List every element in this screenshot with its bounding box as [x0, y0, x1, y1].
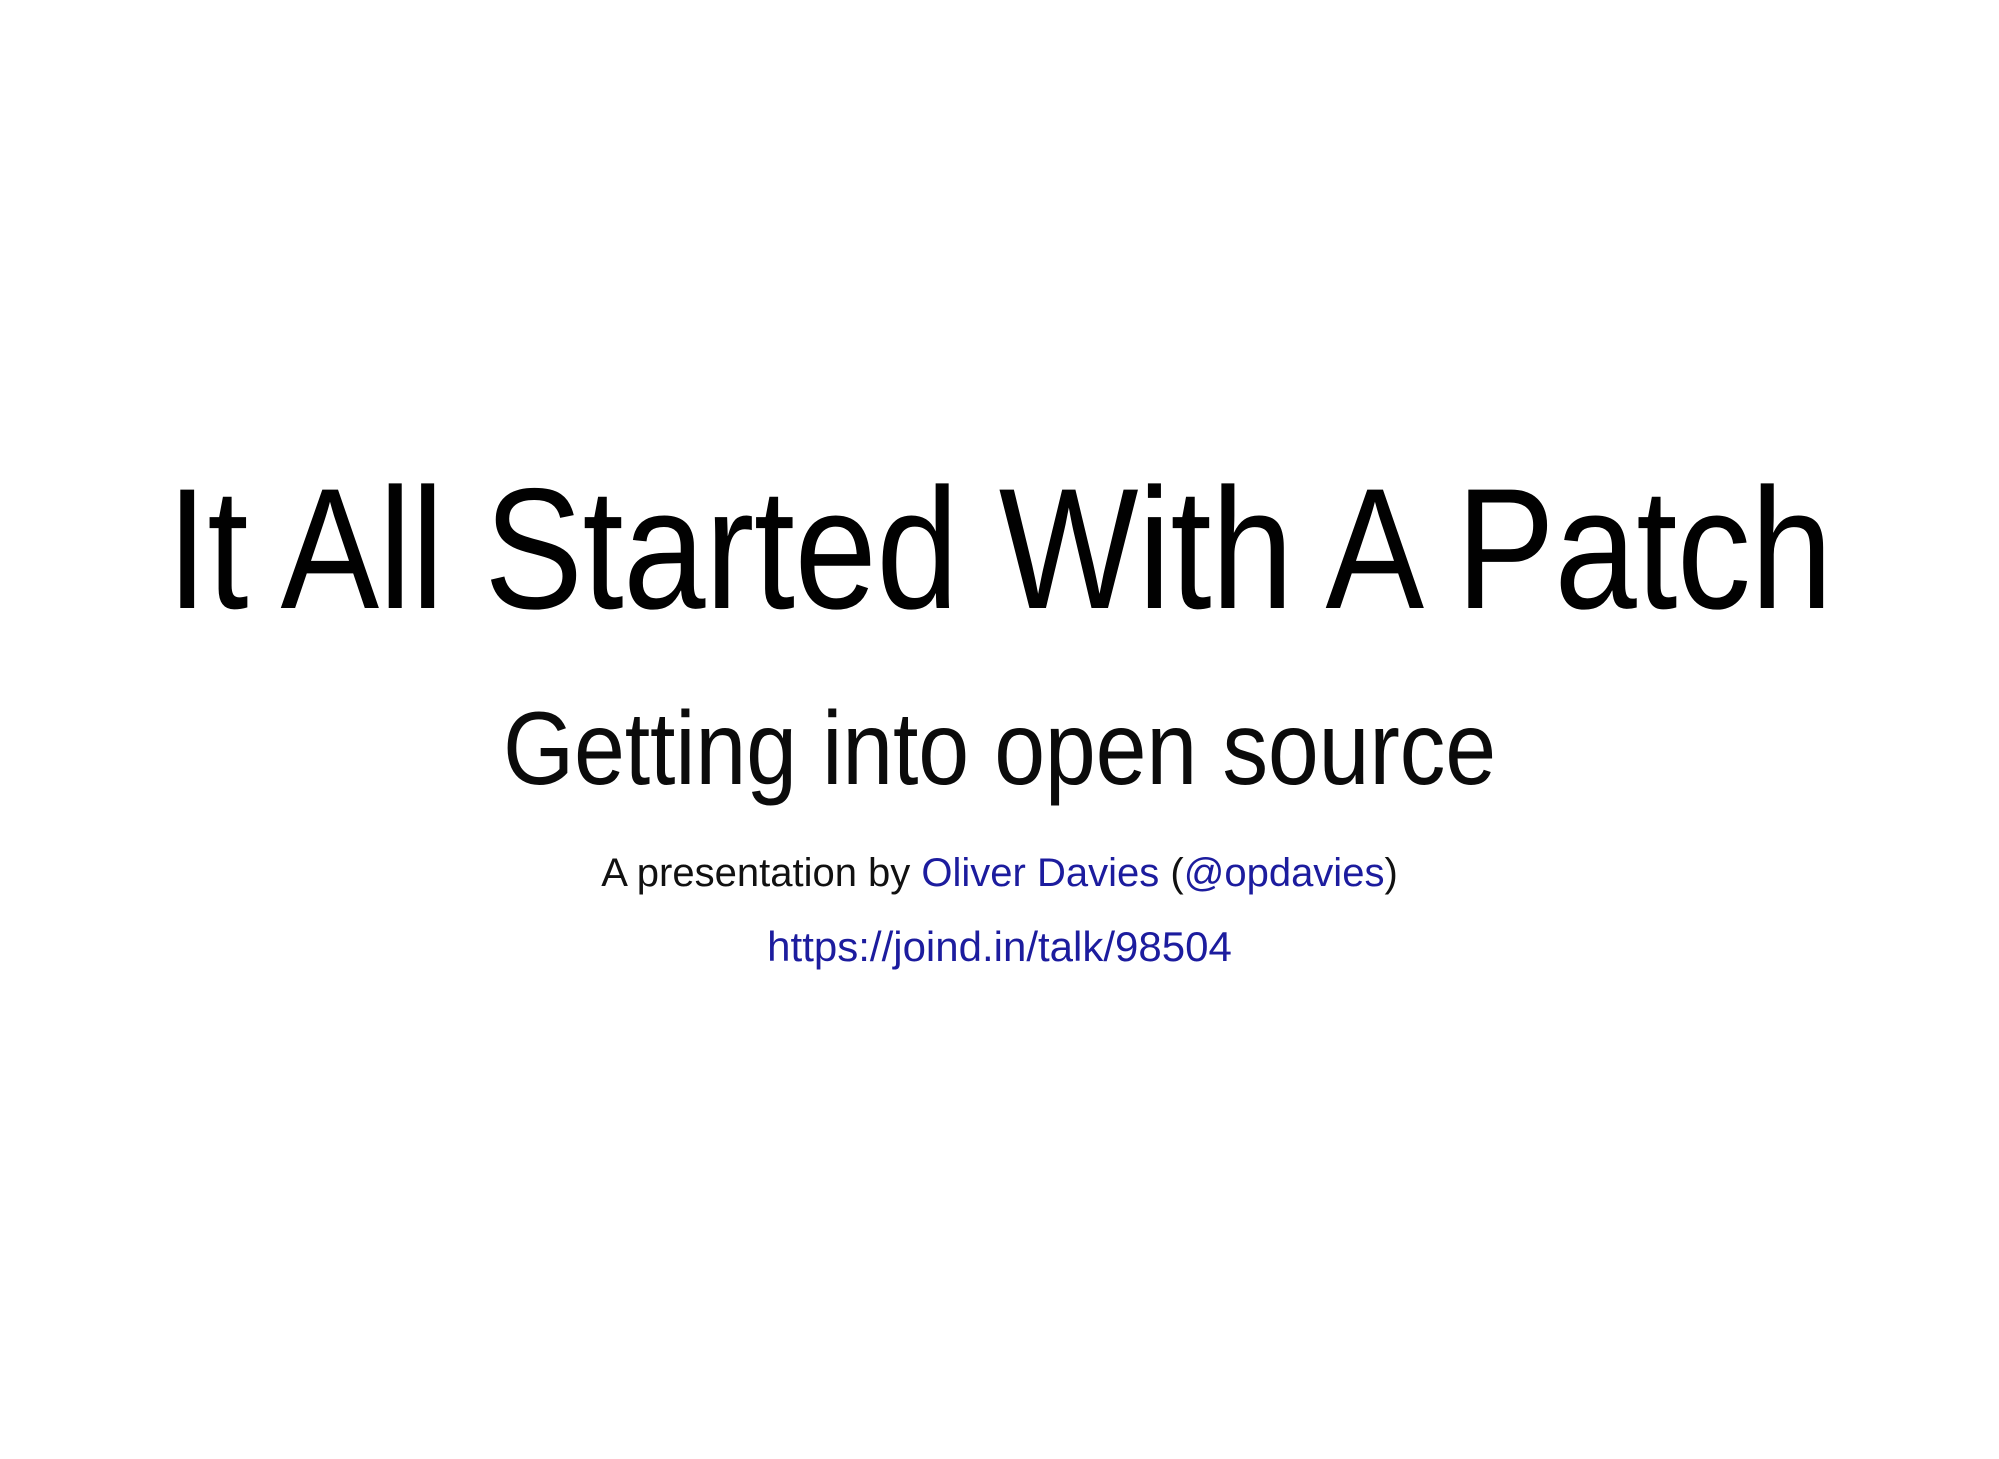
handle-open-paren: (: [1170, 851, 1183, 895]
presentation-slide: It All Started With A Patch Getting into…: [0, 0, 1999, 1459]
byline-prefix-text: A presentation by: [601, 851, 921, 895]
author-handle-link[interactable]: @opdavies: [1184, 851, 1385, 895]
byline-separator: [1159, 851, 1170, 895]
author-name-link[interactable]: Oliver Davies: [921, 851, 1159, 895]
talk-url-link[interactable]: https://joind.in/talk/98504: [0, 921, 1999, 973]
presentation-byline: A presentation by Oliver Davies (@opdavi…: [0, 849, 1999, 897]
slide-title: It All Started With A Patch: [140, 461, 1859, 637]
slide-subtitle: Getting into open source: [120, 694, 1879, 804]
handle-close-paren: ): [1384, 851, 1397, 895]
